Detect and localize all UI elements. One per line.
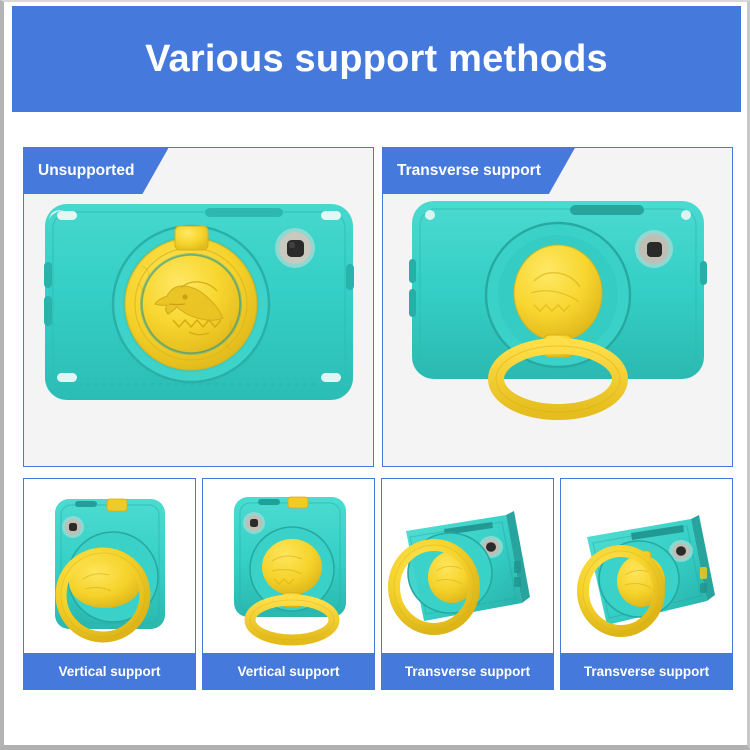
product-image-vertical-2 <box>203 479 374 655</box>
tablet-back-flat-illustration <box>39 192 359 422</box>
thumb-label-bar: Transverse support <box>561 653 732 689</box>
product-image-transverse-angled-2 <box>561 479 732 655</box>
content-area: Unsupported <box>12 115 741 740</box>
product-image-transverse-angled-1 <box>382 479 553 655</box>
thumb-label-text: Vertical support <box>237 664 339 679</box>
thumbnail-row: Vertical support <box>23 478 733 690</box>
tablet-portrait-ring-front-illustration <box>35 485 185 650</box>
thumbnail-transverse-support-1[interactable]: Transverse support <box>381 478 554 690</box>
thumbnail-vertical-support-1[interactable]: Vertical support <box>23 478 196 690</box>
thumb-label-text: Transverse support <box>405 664 530 679</box>
ribbon-label-transverse: Transverse support <box>383 148 575 194</box>
page-title: Various support methods <box>145 38 608 81</box>
thumb-label-bar: Vertical support <box>24 653 195 689</box>
tablet-portrait-ring-folded-illustration <box>214 485 364 650</box>
product-image-unsupported <box>24 148 373 466</box>
product-image-transverse <box>383 148 732 466</box>
tablet-angled-right-ring-stand-illustration <box>567 485 727 650</box>
panel-unsupported[interactable]: Unsupported <box>23 147 374 467</box>
top-panel-row: Unsupported <box>23 147 733 467</box>
tablet-angled-left-ring-stand-illustration <box>388 485 548 650</box>
thumb-label-text: Vertical support <box>58 664 160 679</box>
ribbon-label-text: Transverse support <box>397 162 541 180</box>
header-banner: Various support methods <box>12 6 741 112</box>
product-image-vertical-1 <box>24 479 195 655</box>
thumb-label-bar: Vertical support <box>203 653 374 689</box>
panel-transverse-support[interactable]: Transverse support <box>382 147 733 467</box>
thumbnail-transverse-support-2[interactable]: Transverse support <box>560 478 733 690</box>
thumb-label-bar: Transverse support <box>382 653 553 689</box>
thumb-label-text: Transverse support <box>584 664 709 679</box>
tablet-ring-kickstand-illustration <box>398 187 718 427</box>
infographic-page: Various support methods Unsupported <box>0 0 750 750</box>
thumbnail-vertical-support-2[interactable]: Vertical support <box>202 478 375 690</box>
ribbon-label-text: Unsupported <box>38 162 134 180</box>
